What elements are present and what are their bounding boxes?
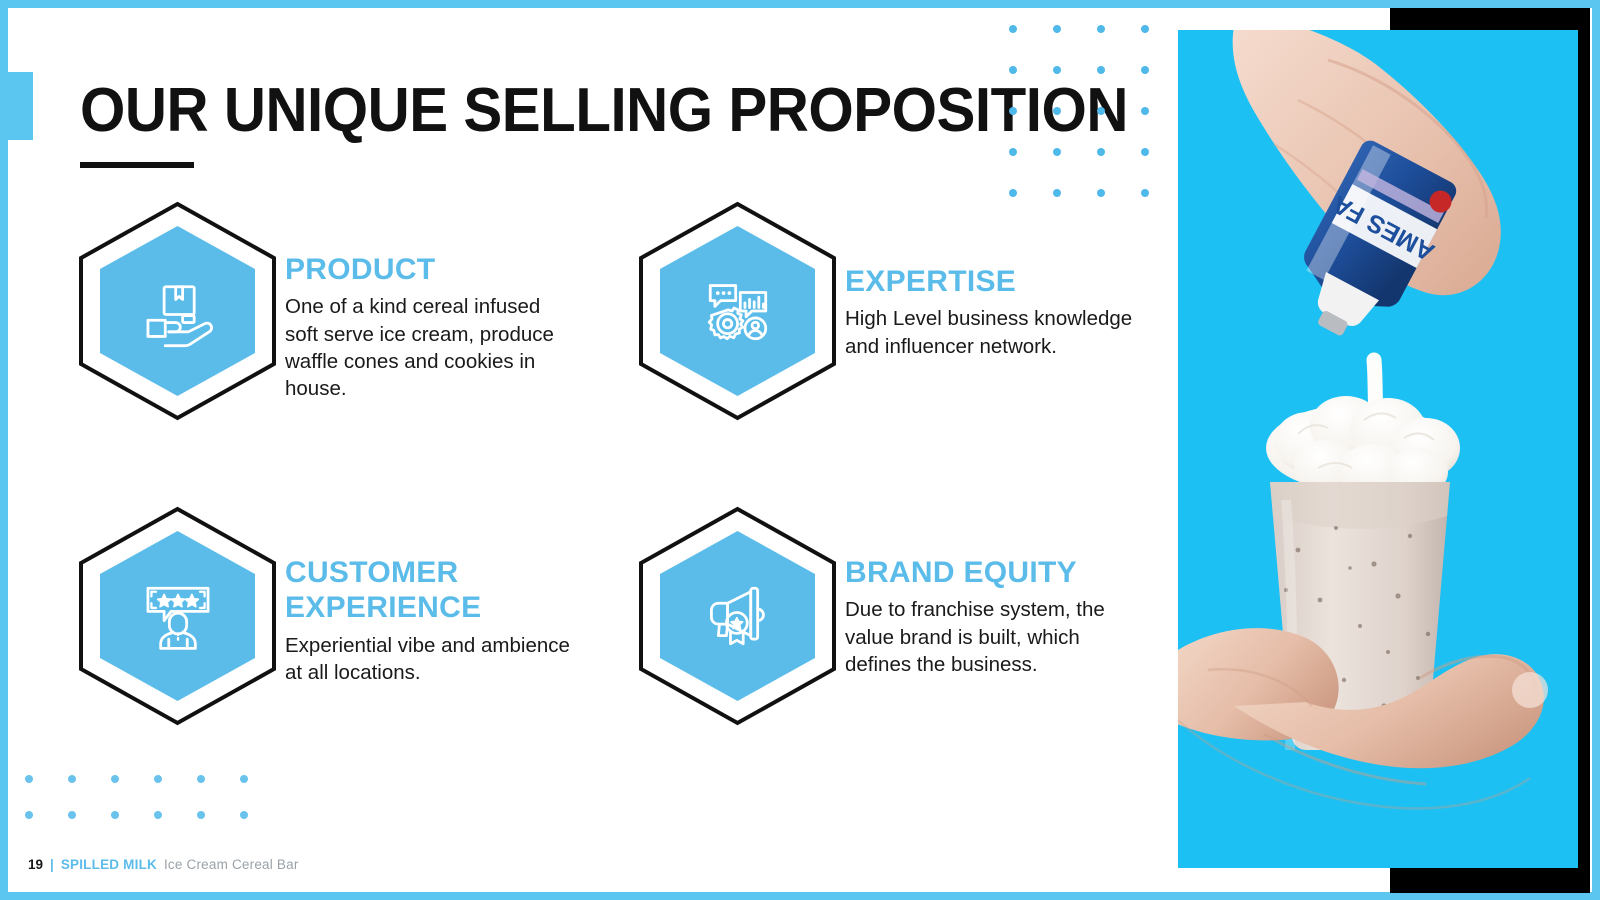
feature-card-expertise: EXPERTISE High Level business knowledge … — [630, 200, 1135, 422]
feature-title: BRAND EQUITY — [845, 555, 1135, 590]
dot — [240, 775, 248, 783]
feature-title: CUSTOMER EXPERIENCE — [285, 555, 575, 626]
feature-card-customer-experience: CUSTOMER EXPERIENCE Experiential vibe an… — [70, 505, 575, 727]
feature-text-customer-experience: CUSTOMER EXPERIENCE Experiential vibe an… — [285, 505, 575, 686]
gear-chat-analytics-icon — [630, 200, 845, 422]
feature-title: EXPERTISE — [845, 264, 1135, 299]
feature-card-product: PRODUCT One of a kind cereal infused sof… — [70, 200, 575, 422]
dot — [1097, 189, 1105, 197]
frame-border-bottom — [0, 892, 1600, 900]
dot — [154, 775, 162, 783]
dot — [1141, 25, 1149, 33]
feature-body: Experiential vibe and ambience at all lo… — [285, 632, 575, 687]
footer-separator: | — [50, 857, 54, 872]
dot — [68, 811, 76, 819]
dot — [197, 811, 205, 819]
dot — [154, 811, 162, 819]
slide-canvas: OUR UNIQUE SELLING PROPOSITION — [0, 0, 1600, 900]
photo-blue-background: AMES FA — [1178, 30, 1578, 868]
feature-text-expertise: EXPERTISE High Level business knowledge … — [845, 200, 1135, 360]
dot — [1097, 148, 1105, 156]
hexagon-badge-customer-experience — [70, 505, 285, 727]
dot — [1053, 189, 1061, 197]
frame-border-top — [0, 0, 1600, 8]
page-number: 19 — [28, 857, 43, 872]
dot — [1097, 25, 1105, 33]
hexagon-badge-product — [70, 200, 285, 422]
package-in-hand-icon — [70, 200, 285, 422]
dot — [1009, 148, 1017, 156]
dot — [111, 775, 119, 783]
dot — [1141, 66, 1149, 74]
feature-body: High Level business knowledge and influe… — [845, 305, 1135, 360]
dot — [1009, 25, 1017, 33]
dot — [1053, 25, 1061, 33]
dot — [1097, 107, 1105, 115]
feature-body: One of a kind cereal infused soft serve … — [285, 293, 575, 402]
feature-text-product: PRODUCT One of a kind cereal infused sof… — [285, 200, 575, 402]
footer-brand-name: SPILLED MILK — [61, 857, 157, 872]
title-underline — [80, 162, 194, 168]
dot — [111, 811, 119, 819]
frame-accent-tab — [0, 72, 33, 140]
footer: 19 | SPILLED MILK Ice Cream Cereal Bar — [28, 857, 299, 872]
dot — [1009, 66, 1017, 74]
dot — [1009, 107, 1017, 115]
photo-panel: AMES FA — [1178, 8, 1600, 892]
dot — [1053, 107, 1061, 115]
dot — [1053, 66, 1061, 74]
dot — [1141, 148, 1149, 156]
megaphone-award-icon — [630, 505, 845, 727]
footer-tagline: Ice Cream Cereal Bar — [164, 857, 299, 872]
dot — [1097, 66, 1105, 74]
dot-grid-bottom-left — [25, 775, 283, 847]
dot — [1053, 148, 1061, 156]
dot — [68, 775, 76, 783]
dot — [25, 775, 33, 783]
dot — [197, 775, 205, 783]
dot — [1141, 107, 1149, 115]
customer-star-review-icon — [70, 505, 285, 727]
page-title: OUR UNIQUE SELLING PROPOSITION — [80, 80, 1128, 142]
hexagon-badge-expertise — [630, 200, 845, 422]
milkshake-photo-illustration: AMES FA — [1178, 30, 1578, 868]
dot — [240, 811, 248, 819]
feature-text-brand-equity: BRAND EQUITY Due to franchise system, th… — [845, 505, 1135, 678]
hexagon-badge-brand-equity — [630, 505, 845, 727]
feature-card-brand-equity: BRAND EQUITY Due to franchise system, th… — [630, 505, 1135, 727]
feature-title: PRODUCT — [285, 252, 575, 287]
dot — [1009, 189, 1017, 197]
feature-body: Due to franchise system, the value brand… — [845, 596, 1135, 678]
dot — [25, 811, 33, 819]
dot — [1141, 189, 1149, 197]
